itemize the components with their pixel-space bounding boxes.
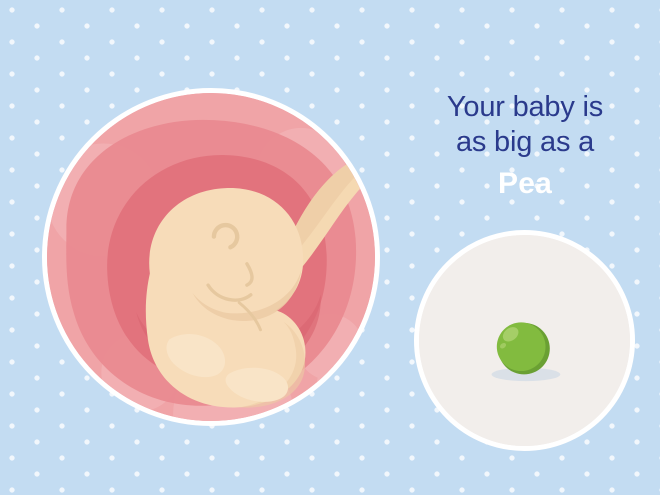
pea-illustration-circle — [414, 230, 635, 451]
size-comparison-word: Pea — [392, 166, 658, 202]
size-comparison-card: Your baby is as big as a Pea — [0, 0, 660, 495]
pea-on-plate-illustration — [419, 235, 630, 446]
headline-block: Your baby is as big as a Pea — [392, 90, 658, 202]
headline-line-1: Your baby is — [392, 90, 658, 125]
fetus-in-womb-illustration — [47, 93, 375, 421]
headline-line-2: as big as a — [392, 125, 658, 160]
fetus-illustration-circle — [42, 88, 380, 426]
